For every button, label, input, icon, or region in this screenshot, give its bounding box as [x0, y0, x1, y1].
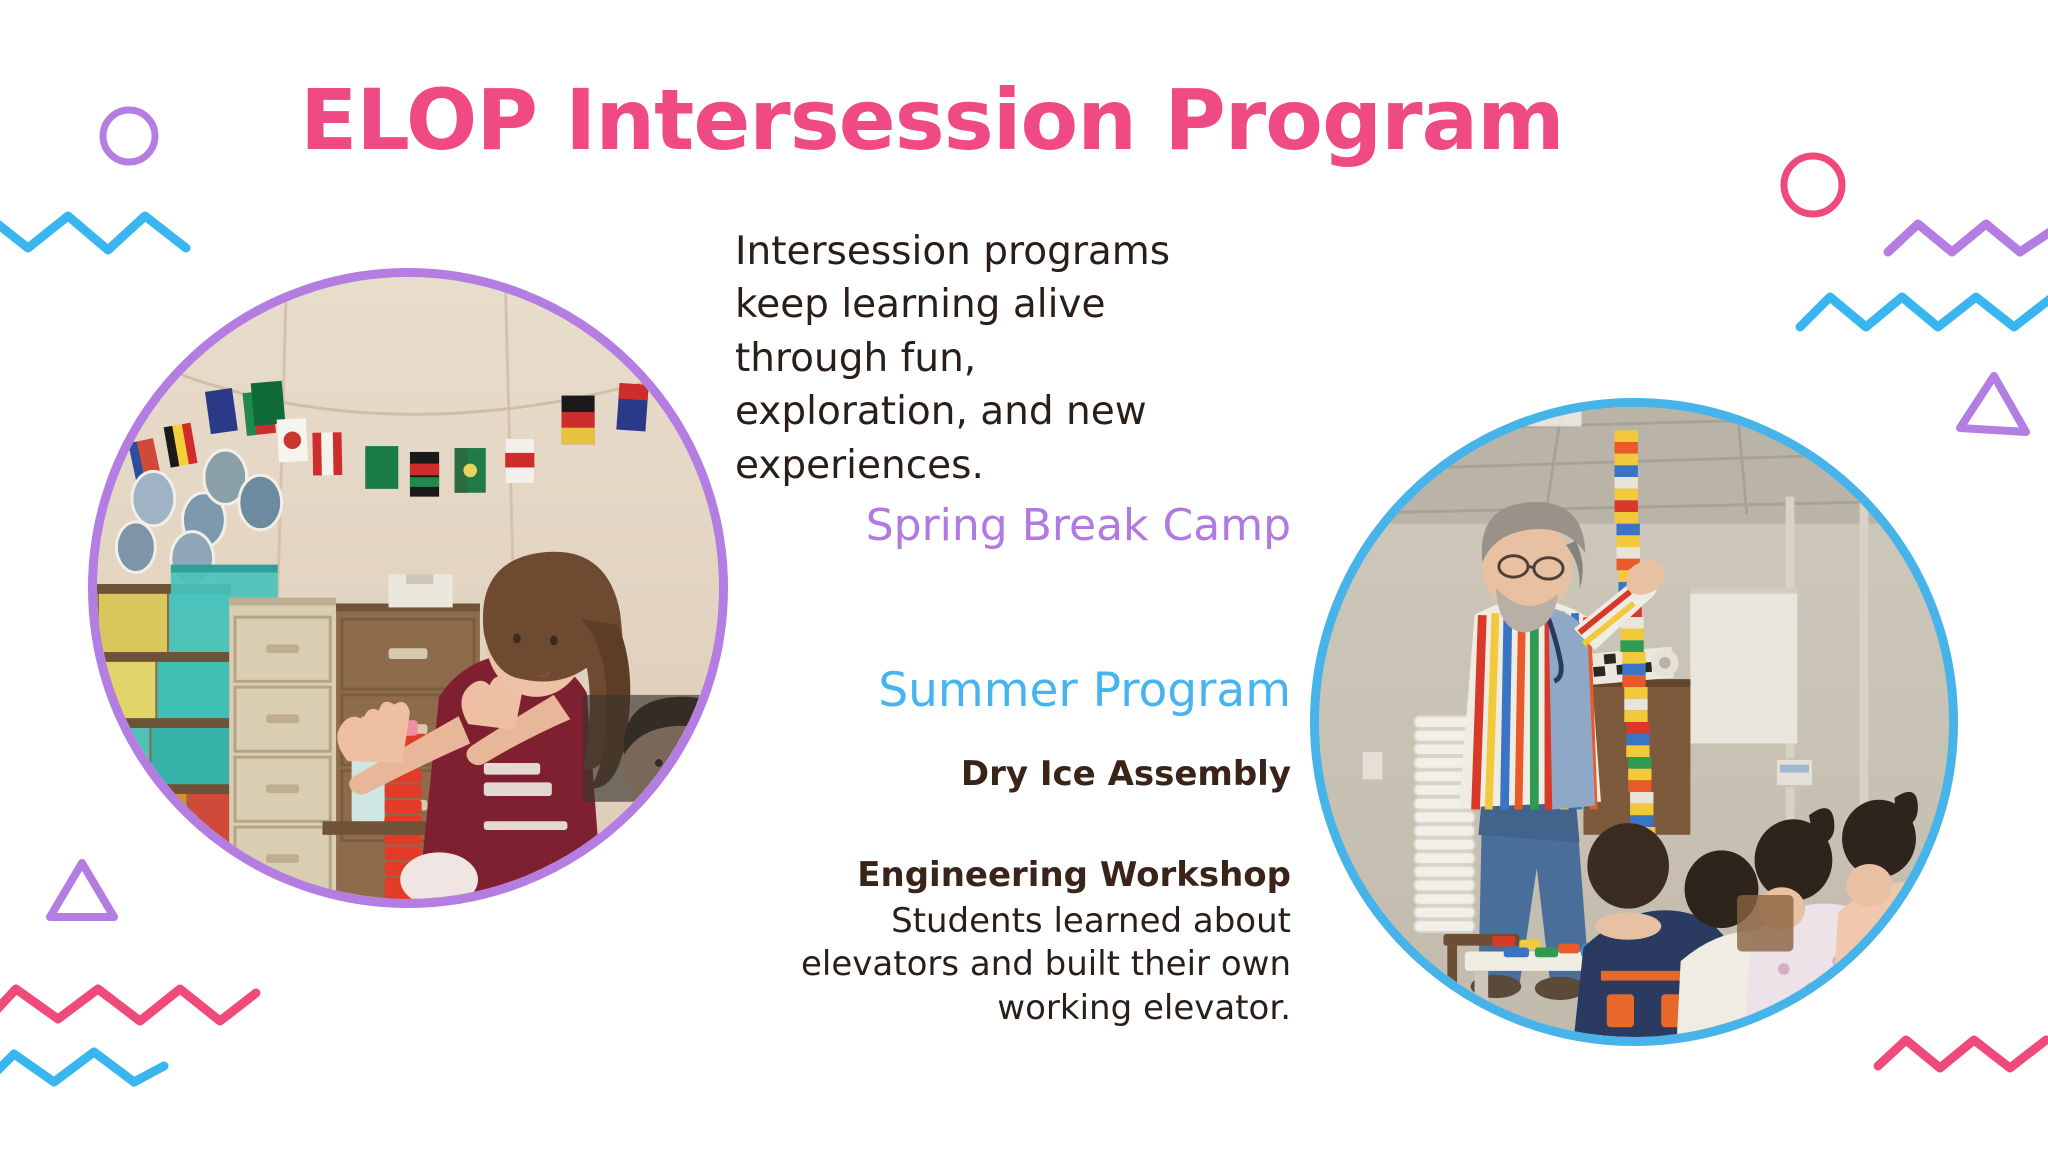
text-column: Intersession programs keep learning aliv… [735, 225, 1295, 1030]
intro-paragraph: Intersession programs keep learning aliv… [735, 225, 1205, 492]
photo-left-image [97, 277, 719, 899]
circle-outline-top-left [98, 105, 160, 167]
photo-right-image [1319, 407, 1949, 1037]
zigzag-purple-top-right [1888, 212, 2048, 262]
zigzag-pink-bottom-right [1878, 1032, 2048, 1077]
zigzag-top-left [0, 200, 205, 270]
spring-break-classroom-photo [88, 268, 728, 908]
poster-canvas: ELOP Intersession Program [0, 0, 2048, 1153]
zigzag-blue-top-right [1800, 285, 2048, 335]
zigzag-blue-bottom-left [0, 1040, 176, 1096]
triangle-outline-right [1952, 368, 2032, 440]
engineering-body: Students learned about elevators and bui… [735, 900, 1295, 1031]
summer-engineering-photo [1310, 398, 1958, 1046]
zigzag-pink-bottom-left [0, 975, 268, 1035]
triangle-outline-bottom-left [42, 855, 120, 925]
page-title: ELOP Intersession Program [300, 78, 1360, 162]
engineering-heading: Engineering Workshop [735, 855, 1295, 896]
circle-outline-top-right [1778, 150, 1848, 220]
summer-program-heading: Summer Program [735, 663, 1295, 719]
spring-break-heading: Spring Break Camp [735, 500, 1295, 553]
dry-ice-heading: Dry Ice Assembly [735, 754, 1295, 795]
